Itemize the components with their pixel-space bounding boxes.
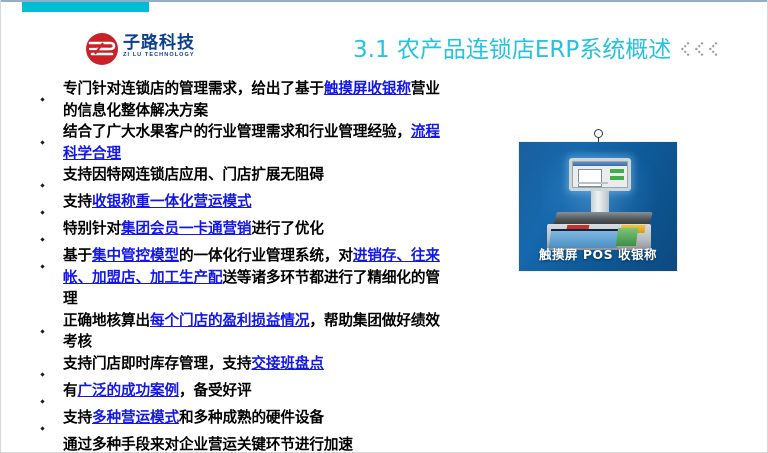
screen-line [578,182,608,184]
bullet-text: 结合了广大水果客户的行业管理需求和行业管理经验，流程科学合理 [63,121,451,164]
bullet-plain: 支持 [63,193,92,210]
chevron-left-icon [695,42,706,59]
bullet-marker-icon [41,310,63,337]
bullet-highlight: 交接班盘点 [251,355,323,372]
bullet-plain: 特别针对 [63,220,121,237]
chevron-left-icon [709,42,720,59]
bullet-plain: 进行了优化 [251,220,323,237]
bullet-list: 专门针对连锁店的管理需求，给出了基于触摸屏收银称营业的信息化整体解决方案结合了广… [41,78,451,453]
bullet-highlight: 触摸屏收银称 [324,80,411,97]
slide-title-area: 3.1 农产品连锁店ERP系统概述 [353,32,753,68]
bullet-plain: 正确地核算出 [63,312,150,329]
accent-tab-bar [22,2,149,12]
bullet-item: 支持收银称重一体化营运模式 [41,191,451,218]
logo-name-cn: 子路科技 [123,35,221,52]
rotate-handle-knob [594,129,603,138]
screen-green-bar [610,169,624,173]
bullet-marker-icon [41,380,63,407]
logo-name-en: ZI LU TECHNOLOGY [123,53,221,59]
bullet-plain: 结合了广大水果客户的行业管理需求和行业管理经验， [63,123,411,140]
bullet-plain: ，备受好评 [179,382,251,399]
bullet-item: 通过多种手段来对企业营运关键环节进行加速 [41,434,451,453]
bullet-text: 特别针对集团会员一卡通营销进行了优化 [63,218,451,240]
bullet-text: 支持收银称重一体化营运模式 [63,191,451,213]
bullet-marker-icon [41,191,63,218]
page-title: 3.1 农产品连锁店ERP系统概述 [353,39,671,62]
bullet-highlight: 广泛的成功案例 [78,382,179,399]
company-logo: 子路科技 ZI LU TECHNOLOGY [85,31,221,69]
bullet-highlight: 收银称重一体化营运模式 [92,193,251,210]
bullet-marker-icon [41,121,63,148]
bullet-marker-icon [41,164,63,191]
slide-canvas: 子路科技 ZI LU TECHNOLOGY 3.1 农产品连锁店ERP系统概述 … [0,0,768,453]
bullet-item: 正确地核算出每个门店的盈利损益情况，帮助集团做好绩效考核 [41,310,451,353]
bullet-plain: 支持 [63,409,92,426]
bullet-item: 支持门店即时库存管理，支持交接班盘点 [41,353,451,380]
bullet-text: 通过多种手段来对企业营运关键环节进行加速 [63,434,451,453]
bullet-marker-icon [41,353,63,380]
chevron-decoration [681,42,720,59]
image-caption: 触摸屏 POS 收银称 [519,244,677,263]
screen-window [578,169,602,187]
bullet-item: 专门针对连锁店的管理需求，给出了基于触摸屏收银称营业的信息化整体解决方案 [41,78,451,121]
bullet-text: 支持多种营运模式和多种成熟的硬件设备 [63,407,451,429]
bullet-item: 有广泛的成功案例，备受好评 [41,380,451,407]
bullet-highlight: 集团会员一卡通营销 [121,220,251,237]
bullet-marker-icon [41,78,63,105]
bullet-plain: 支持因特网连锁店应用、门店扩展无阻碍 [63,166,324,183]
bullet-text: 基于集中管控模型的一体化行业管理系统，对进销存、往来帐、加盟店、加工生产配送等诸… [63,245,451,310]
logo-wordmark: 子路科技 ZI LU TECHNOLOGY [123,35,221,59]
monitor-screen [572,161,628,188]
bullet-marker-icon [41,245,63,272]
pos-monitor-icon [569,158,631,191]
bullet-text: 正确地核算出每个门店的盈利损益情况，帮助集团做好绩效考核 [63,310,451,353]
bullet-text: 有广泛的成功案例，备受好评 [63,380,451,402]
bullet-item: 特别针对集团会员一卡通营销进行了优化 [41,218,451,245]
bullet-highlight: 集中管控模型 [92,247,179,264]
bullet-highlight: 多种营运模式 [92,409,179,426]
bullet-item: 支持因特网连锁店应用、门店扩展无阻碍 [41,164,451,191]
rotate-handle[interactable] [594,129,604,143]
bullet-text: 专门针对连锁店的管理需求，给出了基于触摸屏收银称营业的信息化整体解决方案 [63,78,451,121]
chevron-left-icon [681,42,692,59]
bullet-plain: 基于 [63,247,92,264]
bullet-item: 支持多种营运模式和多种成熟的硬件设备 [41,407,451,434]
screen-titlebar [573,162,627,166]
screen-green-bar [610,176,624,180]
bullet-plain: 和多种成熟的硬件设备 [179,409,324,426]
bullet-plain: 专门针对连锁店的管理需求，给出了基于 [63,80,324,97]
bullet-plain: 通过多种手段来对企业营运关键环节进行加速 [63,436,353,453]
bullet-marker-icon [41,434,63,453]
bullet-item: 结合了广大水果客户的行业管理需求和行业管理经验，流程科学合理 [41,121,451,164]
bullet-plain: 的一体化行业管理系统，对 [179,247,353,264]
bullet-item: 基于集中管控模型的一体化行业管理系统，对进销存、往来帐、加盟店、加工生产配送等诸… [41,245,451,310]
bullet-marker-icon [41,407,63,434]
product-image[interactable]: 触摸屏 POS 收银称 [519,142,677,271]
bullet-text: 支持门店即时库存管理，支持交接班盘点 [63,353,451,375]
bullet-marker-icon [41,218,63,245]
bullet-plain: 有 [63,382,78,399]
bullet-plain: 支持门店即时库存管理，支持 [63,355,251,372]
zilu-logo-icon [85,32,119,66]
bullet-highlight: 每个门店的盈利损益情况 [150,312,309,329]
slide-header: 子路科技 ZI LU TECHNOLOGY 3.1 农产品连锁店ERP系统概述 [1,12,768,70]
bullet-text: 支持因特网连锁店应用、门店扩展无阻碍 [63,164,451,186]
